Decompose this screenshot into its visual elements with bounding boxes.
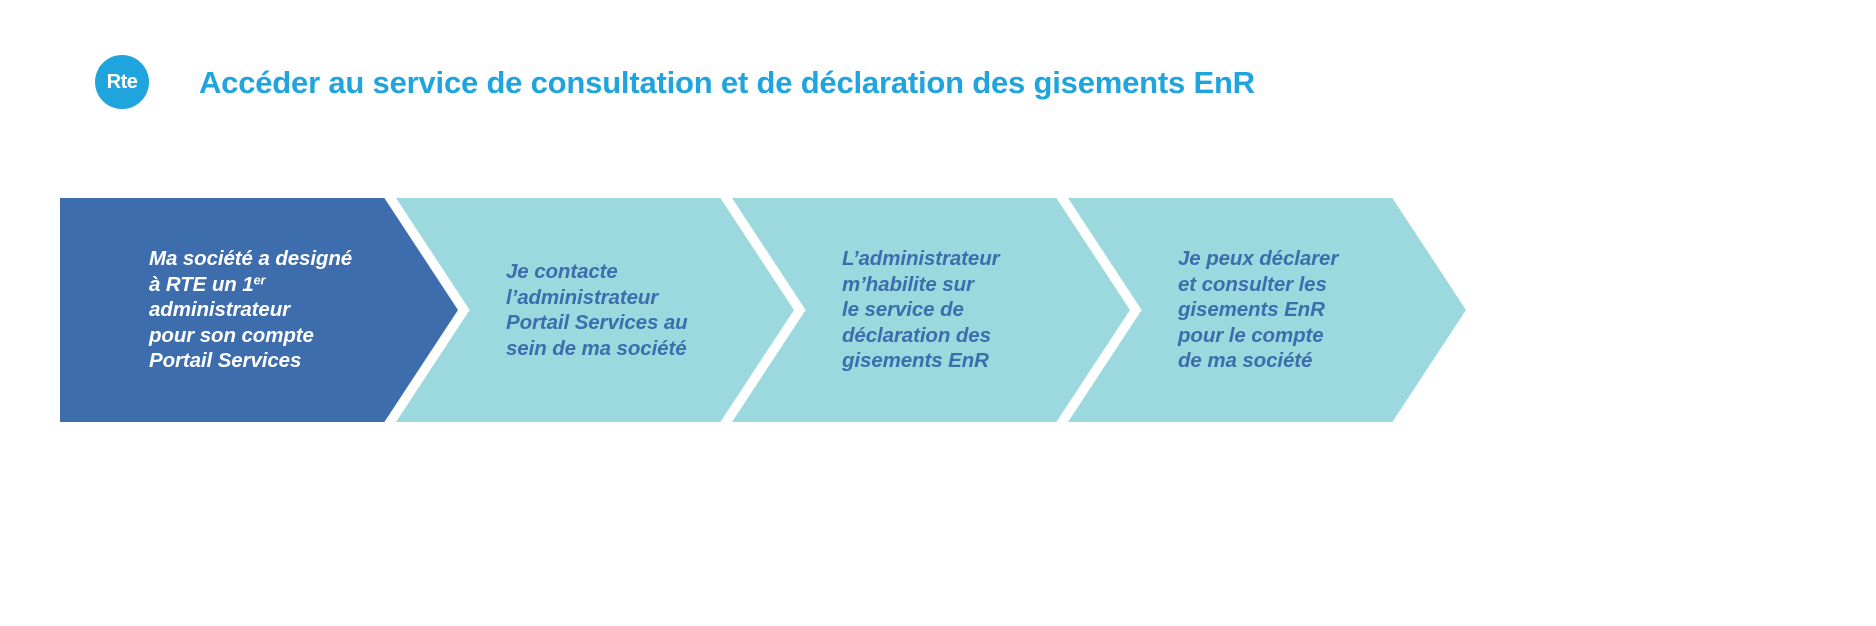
- flow-step-1-label: Ma société a designé à RTE un 1er admini…: [149, 246, 352, 374]
- flow-step-2-label: Je contacte l’administrateur Portail Ser…: [506, 259, 688, 361]
- flow-step-1: Ma société a designé à RTE un 1er admini…: [60, 198, 458, 422]
- page-header: Rte Accéder au service de consultation e…: [95, 52, 1255, 112]
- flow-step-1-text-part1: Ma société a designé à RTE un 1: [149, 247, 352, 296]
- flow-step-3-label: L’administrateur m’habilite sur le servi…: [842, 246, 1000, 374]
- page-title: Accéder au service de consultation et de…: [199, 67, 1255, 98]
- process-flow-diagram: Ma société a designé à RTE un 1er admini…: [0, 198, 1876, 422]
- rte-logo: Rte: [95, 55, 149, 109]
- flow-step-4-label: Je peux déclarer et consulter les giseme…: [1178, 246, 1338, 374]
- rte-logo-text: Rte: [107, 72, 138, 92]
- flow-step-1-ordinal-suffix: er: [254, 272, 266, 287]
- flow-step-1-text-part2: administrateur pour son compte Portail S…: [149, 298, 314, 372]
